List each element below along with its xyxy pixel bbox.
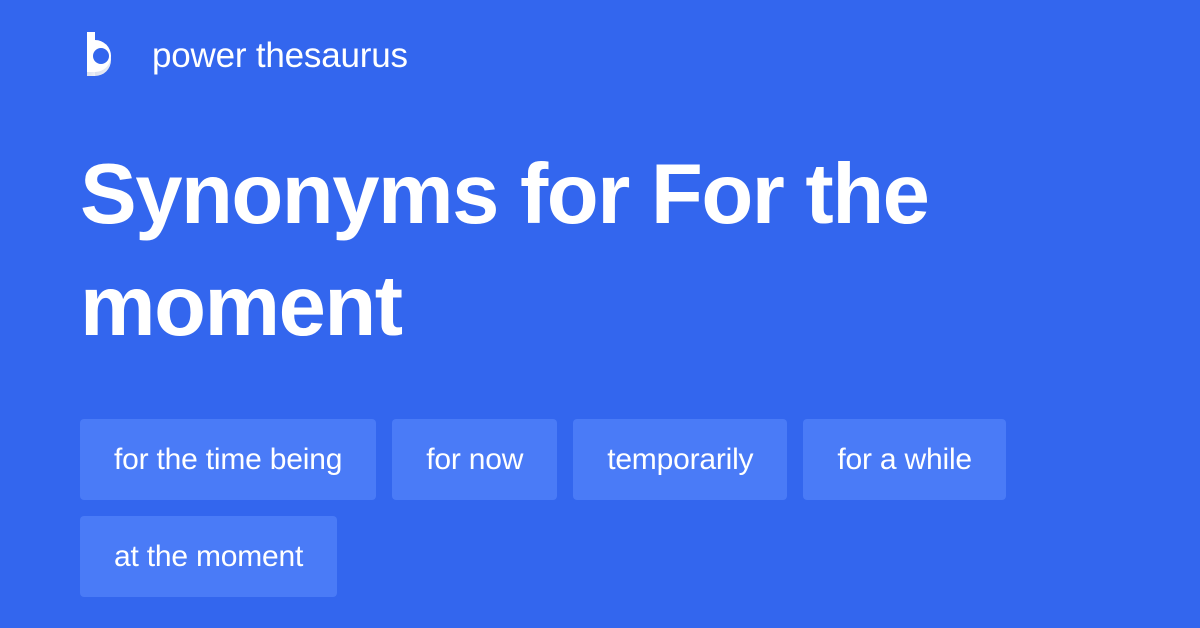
synonym-chip[interactable]: at the moment [80, 516, 337, 597]
synonym-chip[interactable]: for a while [803, 419, 1006, 500]
brand-header[interactable]: power thesaurus [80, 28, 408, 84]
synonym-chip[interactable]: for the time being [80, 419, 376, 500]
synonym-chip[interactable]: temporarily [573, 419, 787, 500]
page-title: Synonyms for For the moment [80, 139, 1100, 363]
synonym-chip-list: for the time being for now temporarily f… [80, 419, 1120, 597]
synonym-chip[interactable]: for now [392, 419, 557, 500]
page-root: power thesaurus Synonyms for For the mom… [0, 0, 1200, 628]
brand-name: power thesaurus [152, 36, 408, 76]
power-thesaurus-b-logo-icon [80, 30, 130, 82]
